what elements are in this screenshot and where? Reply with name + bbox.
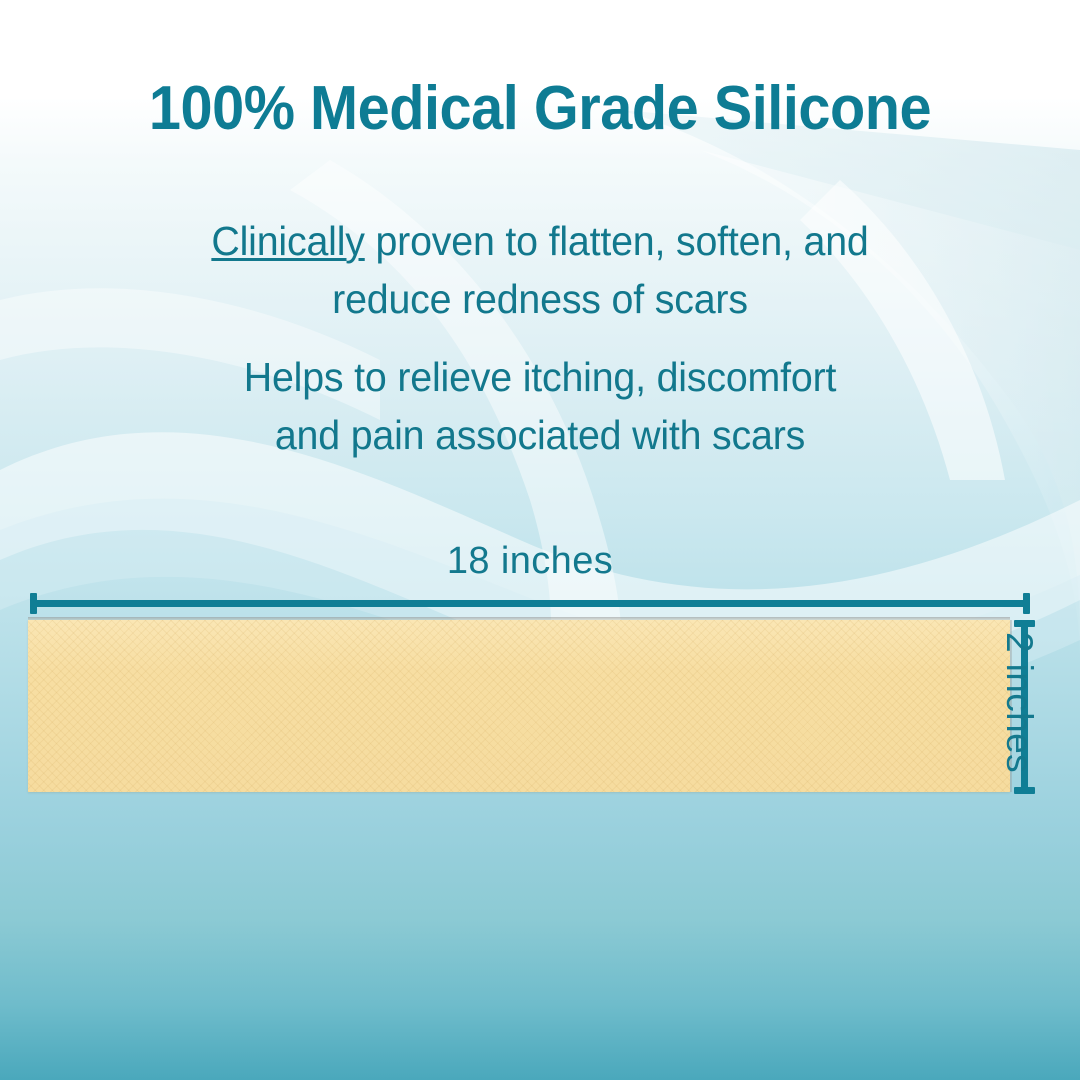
benefit-claim-text: Clinically proven to flatten, soften, an… — [22, 212, 1059, 328]
width-dimension-cap-right — [1023, 593, 1030, 614]
benefit-claim-line-2: reduce redness of scars — [22, 270, 1059, 328]
width-dimension-bar — [30, 600, 1030, 607]
benefit-relief-line-2: and pain associated with scars — [22, 406, 1059, 464]
benefit-relief-line-1: Helps to relieve itching, discomfort — [22, 348, 1059, 406]
clinically-emphasis: Clinically — [211, 218, 364, 264]
silicone-sheet-graphic — [28, 620, 1010, 792]
width-dimension-line — [30, 593, 1030, 613]
width-dimension-label: 18 inches — [0, 540, 1060, 583]
page-title: 100% Medical Grade Silicone — [38, 78, 1042, 140]
product-infographic: 100% Medical Grade Silicone Clinically p… — [0, 0, 1080, 1080]
benefit-claim-line-1: Clinically proven to flatten, soften, an… — [22, 212, 1059, 270]
height-dimension-label: 2 inches — [998, 632, 1040, 773]
silicone-sheet-top-edge — [28, 617, 1010, 620]
height-dimension-cap-bottom — [1014, 787, 1035, 794]
benefit-relief-text: Helps to relieve itching, discomfort and… — [22, 348, 1059, 464]
benefit-claim-rest: proven to flatten, soften, and — [365, 218, 869, 264]
